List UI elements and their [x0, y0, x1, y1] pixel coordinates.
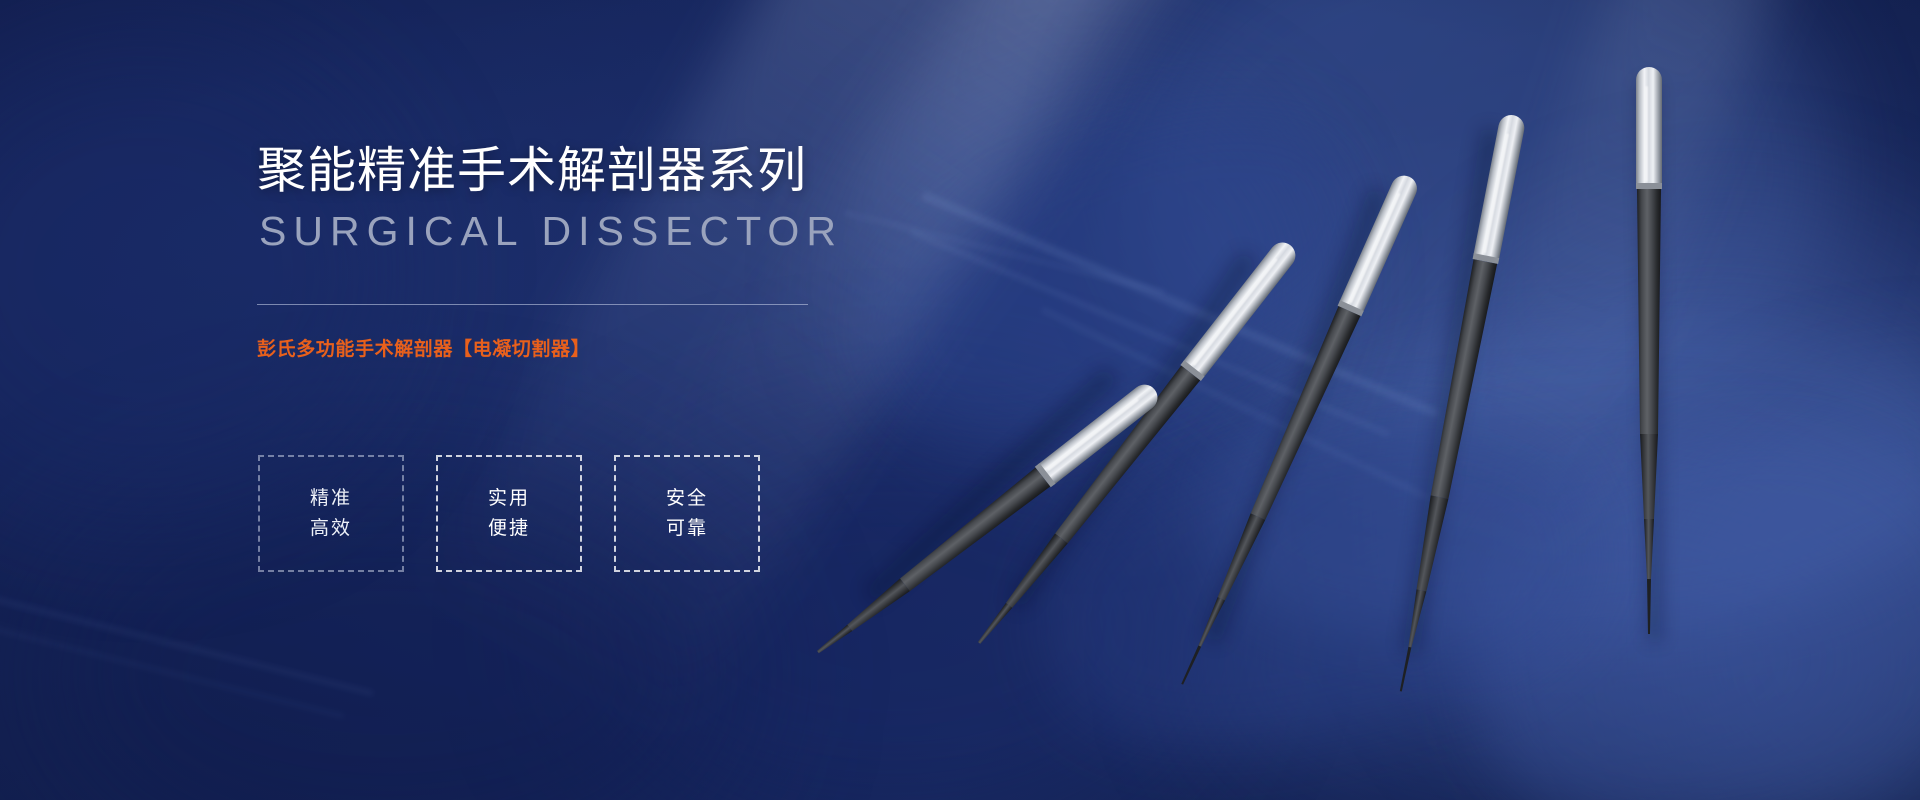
dissector-probe	[1171, 171, 1421, 690]
feature-line-1: 精准	[310, 489, 352, 508]
feature-box-precision[interactable]: 精准 高效	[258, 455, 404, 572]
feature-line-1: 实用	[488, 489, 530, 508]
feature-line-2: 高效	[310, 519, 352, 538]
feature-line-2: 可靠	[666, 519, 708, 538]
feature-box-group: 精准 高效 实用 便捷 安全 可靠	[258, 455, 760, 572]
feature-line-2: 便捷	[488, 519, 530, 538]
product-tagline: 彭氏多功能手术解剖器【电凝切割器】	[257, 340, 590, 359]
feature-line-1: 安全	[666, 489, 708, 508]
dissector-probe	[1636, 67, 1662, 634]
page-subtitle: SURGICAL DISSECTOR	[259, 211, 843, 252]
divider	[257, 304, 808, 305]
feature-box-practical[interactable]: 实用 便捷	[436, 455, 582, 572]
feature-box-safety[interactable]: 安全 可靠	[614, 455, 760, 572]
hero-content: 聚能精准手术解剖器系列 SURGICAL DISSECTOR 彭氏多功能手术解剖…	[257, 0, 877, 800]
product-hero-banner: 聚能精准手术解剖器系列 SURGICAL DISSECTOR 彭氏多功能手术解剖…	[0, 0, 1920, 800]
page-title: 聚能精准手术解剖器系列	[257, 147, 807, 196]
